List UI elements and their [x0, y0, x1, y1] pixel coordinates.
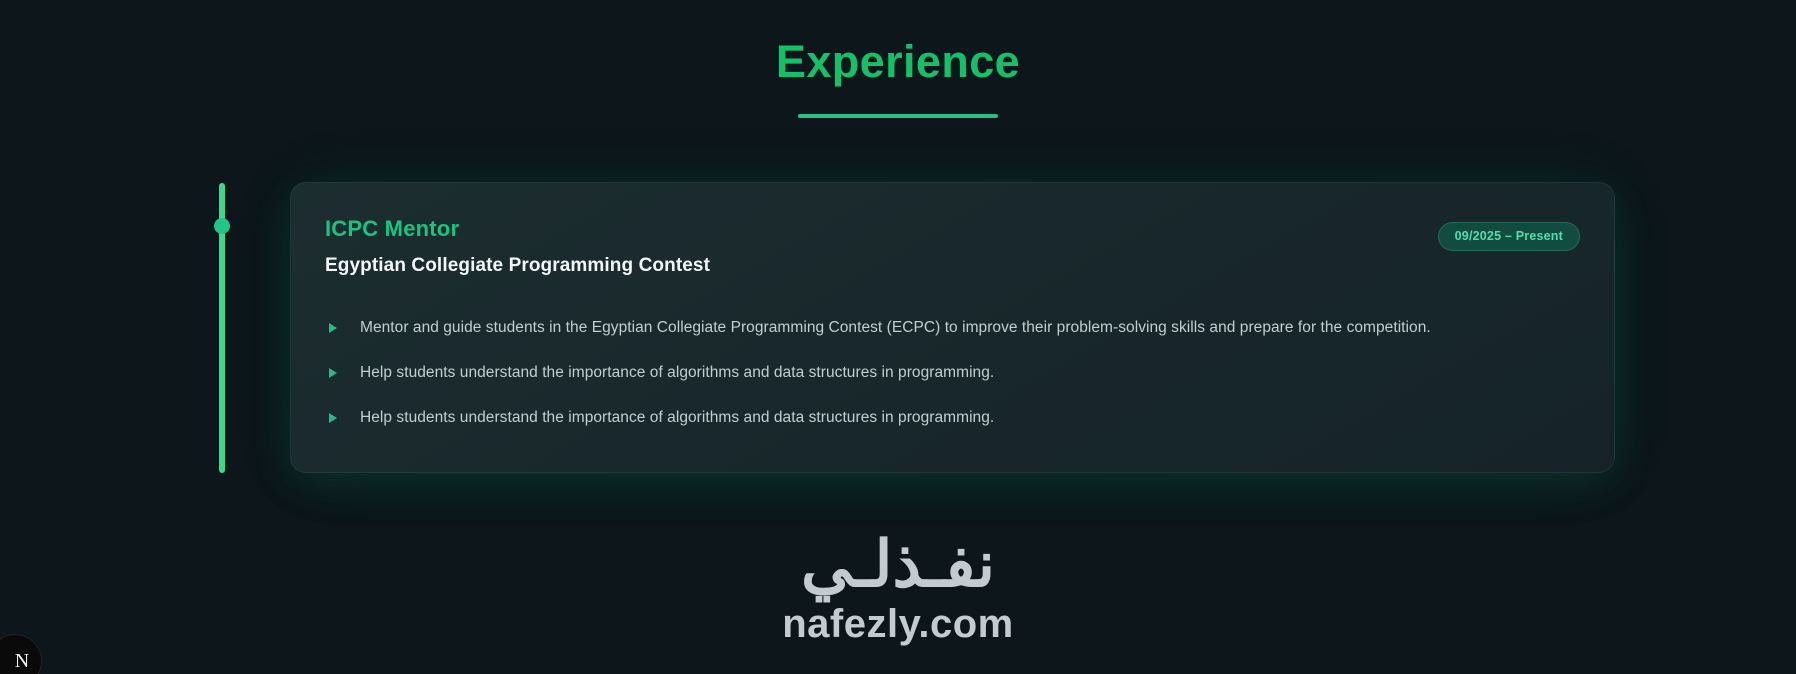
experience-card-header: ICPC Mentor Egyptian Collegiate Programm…: [325, 217, 1578, 291]
list-item: Help students understand the importance …: [325, 408, 1578, 429]
list-item: Mentor and guide students in the Egyptia…: [325, 318, 1578, 339]
triangle-bullet-icon: [329, 413, 337, 423]
timeline-dot-icon: [214, 218, 230, 234]
list-item-text: Mentor and guide students in the Egyptia…: [360, 319, 1431, 336]
triangle-bullet-icon: [329, 323, 337, 333]
experience-timeline: ICPC Mentor Egyptian Collegiate Programm…: [0, 183, 1796, 483]
list-item-text: Help students understand the importance …: [360, 409, 994, 426]
status-badge: 09/2025 – Present: [1438, 222, 1580, 251]
watermark-arabic-text: نفـذلـي: [0, 532, 1796, 596]
nextjs-logo-icon: N: [1, 650, 29, 673]
experience-role-title: ICPC Mentor: [325, 217, 1578, 241]
page-title: Experience: [0, 38, 1796, 85]
title-underline-divider: [798, 114, 998, 118]
section-header: Experience: [0, 0, 1796, 118]
experience-organization: Egyptian Collegiate Programming Contest: [325, 255, 1578, 277]
list-item: Help students understand the importance …: [325, 363, 1578, 384]
watermark-logo: نفـذلـي nafezly.com: [0, 532, 1796, 644]
triangle-bullet-icon: [329, 368, 337, 378]
list-item-text: Help students understand the importance …: [360, 364, 994, 381]
experience-card[interactable]: ICPC Mentor Egyptian Collegiate Programm…: [290, 182, 1615, 473]
watermark-domain-text: nafezly.com: [0, 604, 1796, 644]
experience-bullet-list: Mentor and guide students in the Egyptia…: [325, 318, 1578, 429]
